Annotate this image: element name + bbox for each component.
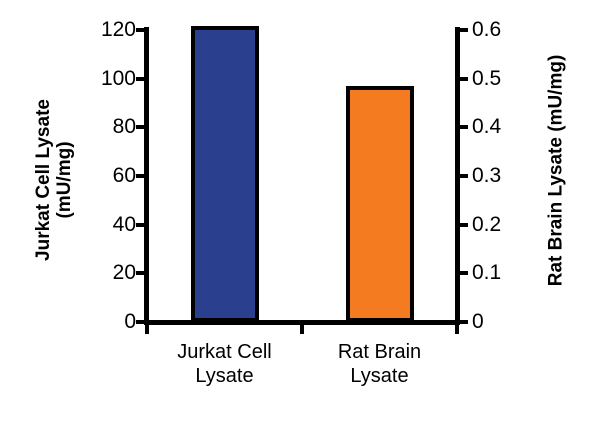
left-tick-mark	[136, 320, 145, 324]
x-tick-mark	[145, 324, 149, 334]
right-tick-label: 0.4	[472, 116, 501, 137]
left-tick-mark	[136, 28, 145, 32]
right-tick-mark	[459, 320, 468, 324]
left-tick-label: 20	[113, 262, 136, 283]
rat-brain-lysate-bar	[346, 86, 414, 322]
right-tick-label: 0.1	[472, 262, 501, 283]
right-tick-mark	[459, 77, 468, 81]
x-tick-mark	[300, 324, 304, 334]
right-tick-mark	[459, 28, 468, 32]
left-tick-label: 0	[124, 311, 136, 332]
bar-chart-figure: Jurkat Cell Lysate (mU/mg) Rat Brain Lys…	[0, 0, 600, 430]
right-tick-label: 0.6	[472, 19, 501, 40]
left-tick-mark	[136, 125, 145, 129]
left-tick-label: 60	[113, 165, 136, 186]
right-tick-label: 0	[472, 311, 484, 332]
left-tick-mark	[136, 77, 145, 81]
left-tick-label: 120	[101, 19, 136, 40]
right-tick-mark	[459, 223, 468, 227]
right-tick-label: 0.3	[472, 165, 501, 186]
left-tick-label: 100	[101, 68, 136, 89]
right-tick-label: 0.5	[472, 68, 501, 89]
left-tick-label: 40	[113, 214, 136, 235]
x-tick-mark	[455, 324, 459, 334]
x-axis-category-label: Rat Brain Lysate	[300, 340, 460, 388]
right-axis-title: Rat Brain Lysate (mU/mg)	[546, 11, 567, 331]
jurkat-cell-lysate-bar	[191, 26, 259, 322]
left-tick-mark	[136, 223, 145, 227]
left-tick-label: 80	[113, 116, 136, 137]
right-tick-mark	[459, 271, 468, 275]
right-tick-mark	[459, 174, 468, 178]
left-tick-mark	[136, 271, 145, 275]
x-axis-category-label: Jurkat Cell Lysate	[145, 340, 305, 388]
right-axis-tick-labels: 00.10.20.30.40.50.6	[472, 0, 532, 430]
left-tick-mark	[136, 174, 145, 178]
right-tick-mark	[459, 125, 468, 129]
right-tick-label: 0.2	[472, 214, 501, 235]
left-axis-tick-labels: 020406080100120	[60, 0, 136, 430]
